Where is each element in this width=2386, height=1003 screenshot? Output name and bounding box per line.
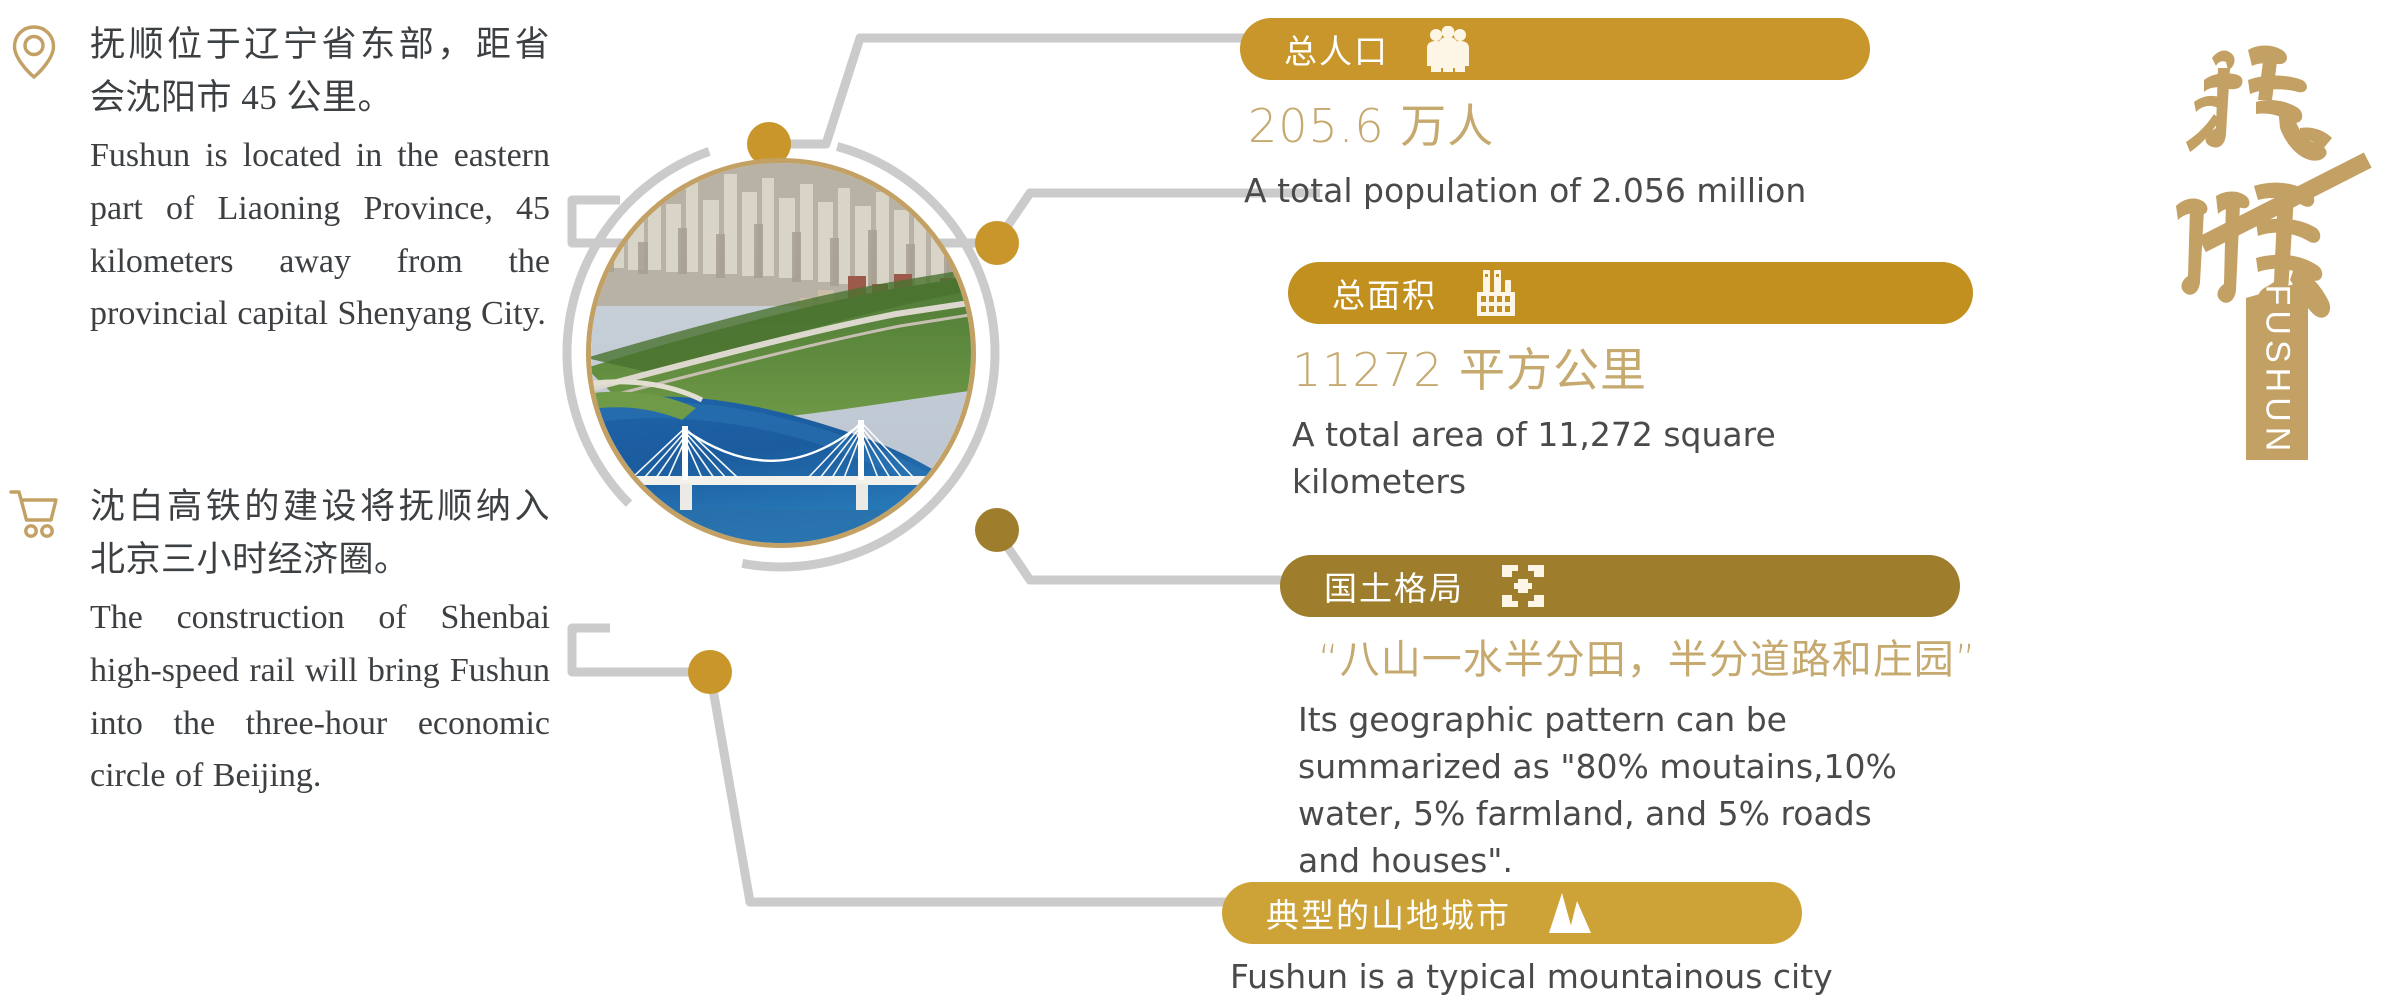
connector-line-1 (768, 38, 1320, 144)
paragraph-text-rail: 沈白高铁的建设将抚顺纳入北京三小时经济圈。 The construction o… (90, 480, 550, 803)
paragraph-text-location: 抚顺位于辽宁省东部，距省会沈阳市 45 公里。 Fushun is locate… (90, 18, 550, 341)
info-card-land-pattern[interactable]: 国土格局 “八山一水半分田，半分道路和庄园” Its geographic pa… (1240, 555, 2160, 884)
land-grid-icon (1494, 561, 1552, 611)
card-pill-area[interactable]: 总面积 (1288, 262, 1973, 324)
location-pin-icon (8, 24, 60, 80)
connector-node-3 (975, 508, 1019, 552)
connector-line-4 (572, 628, 1320, 902)
paragraph-block-location: 抚顺位于辽宁省东部，距省会沈阳市 45 公里。 Fushun is locate… (0, 18, 560, 341)
people-group-icon (1419, 24, 1477, 74)
card-desc-area: A total area of 11,272 square kilometers (1292, 412, 1932, 506)
card-label-population: 总人口 (1284, 25, 1389, 73)
card-label-land-pattern: 国土格局 (1324, 562, 1464, 610)
paragraph-block-rail: 沈白高铁的建设将抚顺纳入北京三小时经济圈。 The construction o… (0, 480, 560, 803)
card-desc-land-pattern: Its geographic pattern can be summarized… (1298, 697, 1938, 884)
card-desc-population: A total population of 2.056 million (1244, 168, 1884, 215)
brand-latin-label: FUSHUN (2258, 284, 2297, 456)
card-value-area: 11272 平方公里 (1292, 334, 2160, 400)
card-value-population: 205.6 万人 (1248, 90, 2160, 156)
info-card-population[interactable]: 总人口 205.6 万人 A total population of 2.056… (1240, 18, 2160, 215)
card-pill-population[interactable]: 总人口 (1240, 18, 1870, 80)
card-label-mountainous-city: 典型的山地城市 (1266, 889, 1511, 937)
paragraph-en-location: Fushun is located in the eastern part of… (90, 130, 550, 341)
card-pill-land-pattern[interactable]: 国土格局 (1280, 555, 1960, 617)
card-value-land-pattern: “八山一水半分田，半分道路和庄园” (1318, 627, 2160, 685)
paragraph-cn-rail: 沈白高铁的建设将抚顺纳入北京三小时经济圈。 (90, 480, 550, 586)
center-graphic (560, 0, 1320, 1003)
brand-latin-label-wrap: FUSHUN (2246, 280, 2308, 460)
paragraph-en-rail: The construction of Shenbai high-speed r… (90, 592, 550, 803)
card-desc-mountainous-city: Fushun is a typical mountainous city (1230, 954, 1870, 1001)
city-photo-circle (586, 158, 976, 548)
info-cards-column: 总人口 205.6 万人 A total population of 2.056… (1240, 0, 2160, 1003)
shopping-cart-icon (8, 486, 60, 542)
mountain-icon (1541, 888, 1599, 938)
factory-icon (1467, 268, 1525, 318)
paragraph-cn-location: 抚顺位于辽宁省东部，距省会沈阳市 45 公里。 (90, 18, 550, 124)
connector-node-4 (688, 650, 732, 694)
info-card-mountainous-city[interactable]: 典型的山地城市 Fushun is a typical mountainous … (1240, 882, 2160, 1001)
left-text-column: 抚顺位于辽宁省东部，距省会沈阳市 45 公里。 Fushun is locate… (0, 0, 560, 1003)
card-pill-mountainous-city[interactable]: 典型的山地城市 (1222, 882, 1802, 944)
connector-node-2 (975, 221, 1019, 265)
city-aerial-photo (586, 158, 976, 548)
card-label-area: 总面积 (1332, 269, 1437, 317)
info-card-area[interactable]: 总面积 11272 平方公里 (1240, 262, 2160, 506)
brand-panel: FUSHUN (2160, 10, 2370, 440)
